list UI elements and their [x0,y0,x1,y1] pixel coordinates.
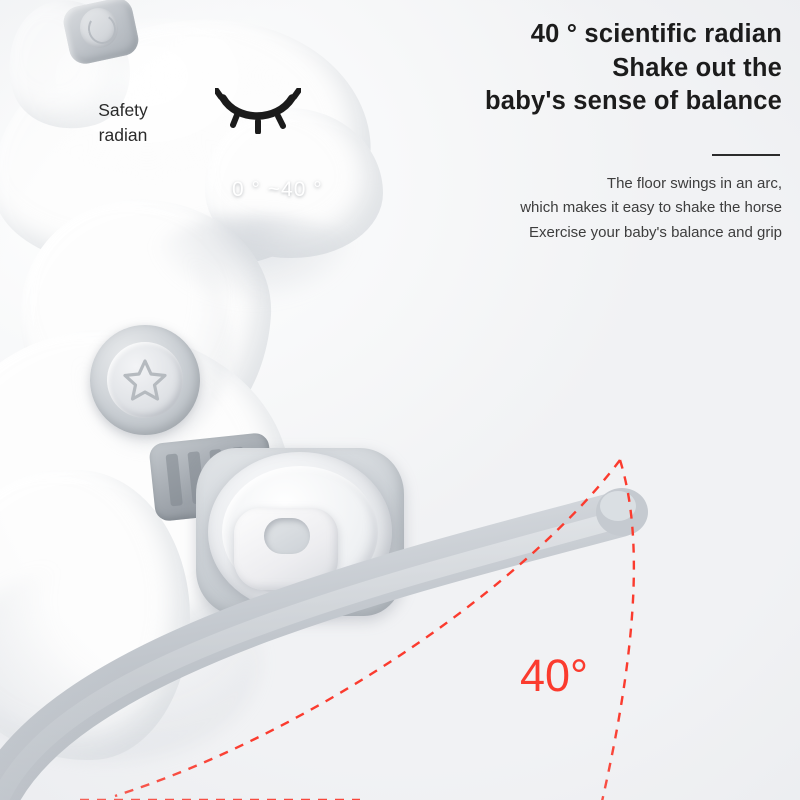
product-marketing-image: Safety radian 0 ° ~40 ° 40° [0,0,800,800]
headline-divider [712,154,780,156]
subcopy-line-2: which makes it easy to shake the horse [352,196,782,220]
headline-line-1: 40 ° scientific radian [342,18,782,52]
subcopy: The floor swings in an arc, which makes … [352,172,782,245]
headline: 40 ° scientific radian Shake out the bab… [342,18,782,119]
headline-line-3: baby's sense of balance [342,85,782,119]
headline-line-2: Shake out the [342,52,782,86]
subcopy-line-3: Exercise your baby's balance and grip [352,221,782,245]
subcopy-line-1: The floor swings in an arc, [352,172,782,196]
edge-vignette [0,0,800,800]
